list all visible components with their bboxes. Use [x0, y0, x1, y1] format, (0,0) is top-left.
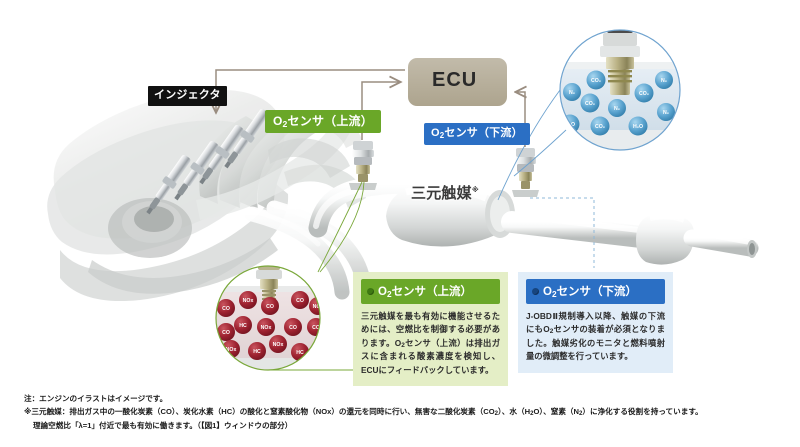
bullet-icon — [532, 288, 539, 295]
molecule: CO₂ — [581, 94, 600, 113]
molecule: H₂O — [629, 117, 648, 136]
label-o2-sensor-upstream: O2センサ（上流） — [265, 110, 381, 133]
svg-text:CO: CO — [266, 304, 274, 310]
svg-text:HC: HC — [239, 323, 247, 329]
svg-text:NOx: NOx — [261, 325, 272, 331]
svg-text:HC: HC — [316, 348, 324, 354]
footnote-line-3: 理論空燃比「λ=1」付近で最も有効に働きます。（【図1】ウィンドウの部分） — [24, 419, 784, 432]
callout-o2-upstream-body: 三元触媒を最も有効に機能させるためには、空燃比を制御する必要があります。O2セン… — [361, 310, 500, 377]
svg-text:CO: CO — [222, 306, 230, 312]
molecule: NOx — [257, 318, 275, 336]
svg-text:CO₂: CO₂ — [585, 101, 596, 107]
molecule: N₂ — [563, 83, 581, 101]
svg-text:N₂: N₂ — [661, 78, 668, 84]
svg-text:N₂: N₂ — [614, 106, 621, 112]
o2-sensor-downstream-part — [512, 148, 539, 197]
svg-text:NOx: NOx — [273, 342, 284, 348]
molecule: CO — [284, 318, 302, 336]
label-injector: インジェクタ — [148, 86, 227, 106]
molecule: NOx — [269, 335, 287, 353]
molecule: NOx — [239, 291, 257, 309]
diagram-canvas: CO CO NOx CO CO NOx HC NOx CO CO NOx HC … — [0, 0, 800, 447]
svg-text:CO₂: CO₂ — [639, 91, 650, 97]
molecule: CO — [217, 299, 235, 317]
molecule: CO₂ — [591, 117, 610, 136]
footnotes: 注：エンジンのイラストはイメージです。 ※三元触媒：排出ガス中の一酸化炭素（CO… — [24, 392, 784, 432]
svg-text:CO₂: CO₂ — [591, 78, 602, 84]
label-three-way-catalyst: 三元触媒※ — [411, 186, 479, 201]
svg-text:H₂O: H₂O — [633, 124, 643, 130]
svg-text:CO₂: CO₂ — [595, 124, 606, 130]
callout-o2-upstream-title: O2センサ（上流） — [361, 279, 500, 304]
molecule: CO — [261, 297, 279, 315]
molecule: CO — [291, 291, 309, 309]
svg-text:NOx: NOx — [243, 298, 254, 304]
label-o2-sensor-downstream: O2センサ（下流） — [424, 123, 530, 145]
footnote-line-2: ※三元触媒：排出ガス中の一酸化炭素（CO）、炭化水素（HC）の酸化と窒素酸化物（… — [24, 405, 784, 418]
svg-text:CO: CO — [289, 325, 297, 331]
svg-text:N₂: N₂ — [569, 90, 576, 96]
callout-o2-upstream: O2センサ（上流） 三元触媒を最も有効に機能させるためには、空燃比を制御する必要… — [353, 272, 508, 386]
label-o2-upstream-text: センサ（上流） — [288, 114, 373, 128]
callout-o2-downstream: O2センサ（下流） J-OBDⅡ規制導入以降、触媒の下流にもO2センサの装着が必… — [518, 272, 673, 373]
molecule: HC — [248, 342, 266, 360]
svg-text:CO: CO — [296, 298, 304, 304]
svg-text:HC: HC — [296, 350, 304, 356]
molecule: N₂ — [608, 99, 626, 117]
molecule: CO — [307, 318, 325, 336]
svg-text:CO: CO — [222, 330, 230, 336]
bullet-icon — [367, 288, 374, 295]
svg-text:N₂: N₂ — [663, 110, 670, 116]
callout-o2-downstream-body: J-OBDⅡ規制導入以降、触媒の下流にもO2センサの装着が必須となりました。触媒… — [526, 310, 665, 364]
molecule: HC — [234, 316, 252, 334]
molecule: N₂ — [655, 71, 673, 89]
label-o2-downstream-text: センサ（下流） — [444, 127, 522, 139]
molecule: CO₂ — [587, 71, 606, 90]
label-ecu: ECU — [432, 70, 477, 90]
svg-text:HC: HC — [253, 349, 261, 355]
callout-o2-downstream-title: O2センサ（下流） — [526, 279, 665, 304]
footnote-marker: ※ — [472, 187, 479, 194]
molecule: CO₂ — [635, 84, 654, 103]
footnote-line-1: 注：エンジンのイラストはイメージです。 — [24, 392, 784, 405]
